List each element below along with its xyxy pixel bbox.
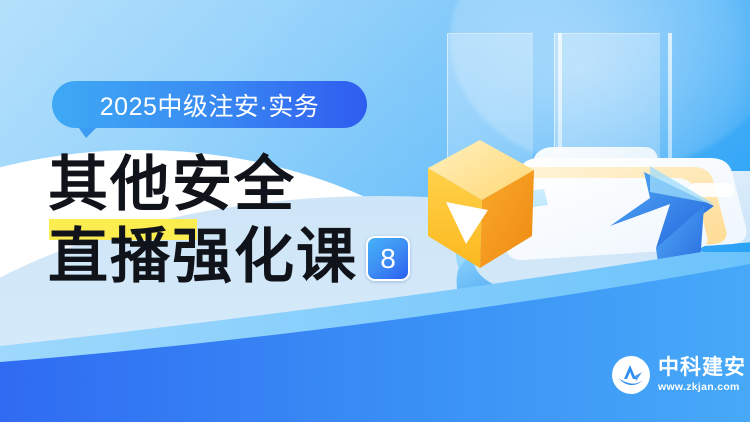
course-category-label: 2025中级注安·实务	[100, 87, 319, 123]
headline-line-1: 其他安全	[48, 152, 410, 218]
course-cover-poster: 2025中级注安·实务 其他安全 直播强化课 8 中科建安 www.zkjan.…	[0, 0, 750, 422]
episode-number-value: 8	[380, 245, 396, 273]
brand-logo[interactable]: 中科建安 www.zkjan.com	[612, 356, 746, 394]
headline-block: 其他安全 直播强化课 8	[48, 152, 410, 290]
brand-logo-text: 中科建安 www.zkjan.com	[658, 356, 746, 394]
episode-number-badge: 8	[366, 236, 410, 281]
headline-line-2: 直播强化课 8	[48, 224, 410, 290]
brand-name: 中科建安	[658, 356, 746, 378]
course-category-badge: 2025中级注安·实务	[52, 81, 367, 128]
zkjan-mountain-mark-icon	[612, 356, 650, 394]
brand-url: www.zkjan.com	[658, 380, 746, 394]
headline-line-2-text: 直播强化课	[48, 224, 358, 290]
headline-line-1-text: 其他安全	[48, 150, 296, 220]
